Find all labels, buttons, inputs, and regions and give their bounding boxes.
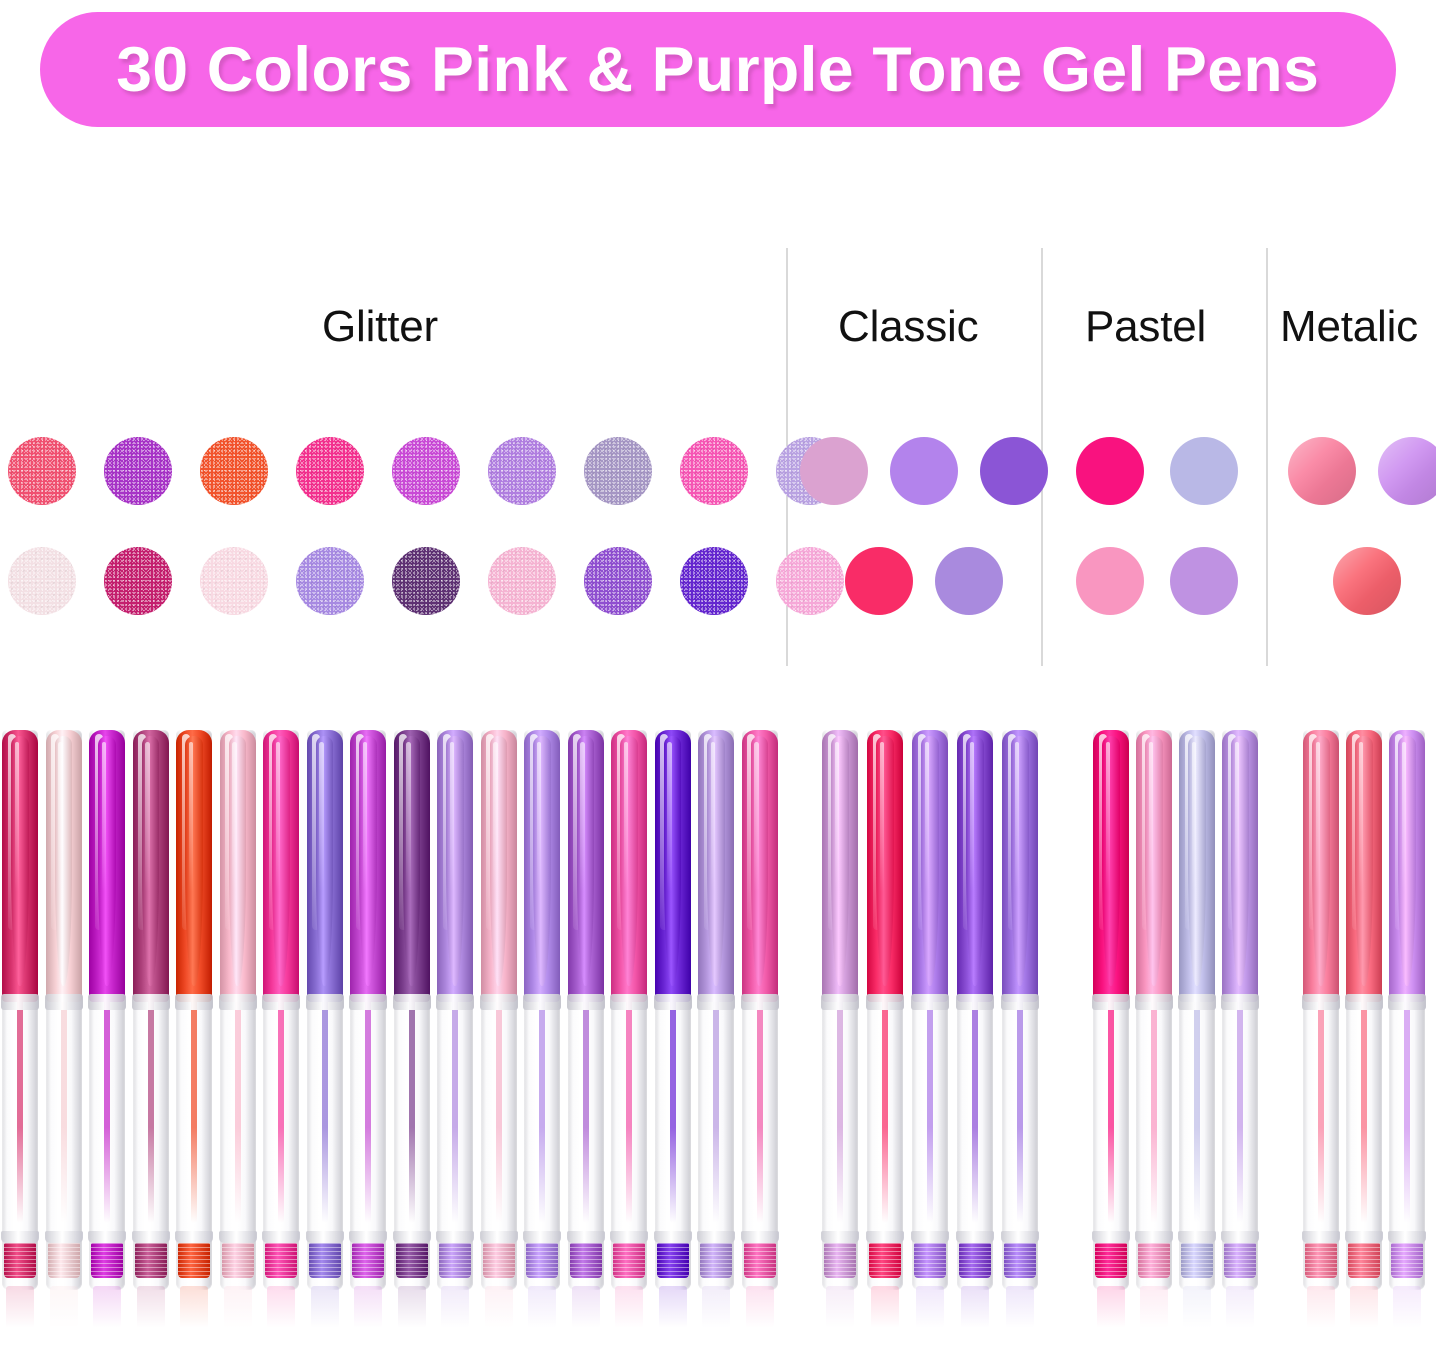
pen-classic-4 — [957, 730, 993, 1290]
pen-ink-plug — [1391, 1243, 1423, 1278]
pen-clip-highlight — [970, 742, 974, 892]
pen-ink-plug — [48, 1243, 80, 1278]
pen-reflection-classic-3 — [912, 1286, 948, 1332]
pen-ink-plug — [1305, 1243, 1337, 1278]
swatch-glitter-r2-6 — [488, 547, 556, 615]
pen-plug-rings — [657, 1243, 689, 1278]
pen-end-ring — [956, 1231, 994, 1243]
pen-reflection-classic-2 — [867, 1286, 903, 1332]
pen-reflection-glitter-17 — [698, 1286, 734, 1332]
pen-glitter-13 — [524, 730, 560, 1290]
pen-clip-highlight — [145, 742, 149, 892]
pen-ink-plug — [1224, 1243, 1256, 1278]
pen-ink-plug — [1138, 1243, 1170, 1278]
pen-end-ring — [1092, 1231, 1130, 1243]
pen-ink-plug — [352, 1243, 384, 1278]
pen-reflection-fill — [311, 1286, 339, 1328]
pen-reflection-glitter-9 — [350, 1286, 386, 1332]
pen-end-ring — [821, 1231, 859, 1243]
pen-clip — [1011, 736, 1028, 986]
pen-reflection-fill — [93, 1286, 121, 1328]
pen-reflection-fill — [1140, 1286, 1168, 1328]
pen-end-ring — [132, 1231, 170, 1243]
pen-clip-highlight — [15, 742, 19, 892]
pen-plug-rings — [222, 1243, 254, 1278]
swatch-glitter-r1-4 — [296, 437, 364, 505]
pen-collar — [393, 994, 431, 1010]
swatch-glitter-r1-1 — [8, 437, 76, 505]
swatch-metalic-r2-1 — [1333, 547, 1401, 615]
pen-ink-plug — [613, 1243, 645, 1278]
pen-reflection-glitter-1 — [2, 1286, 38, 1332]
pen-collar — [1, 994, 39, 1010]
pen-glitter-8 — [307, 730, 343, 1290]
pen-plug-rings — [1391, 1243, 1423, 1278]
pen-end-ring — [911, 1231, 949, 1243]
pen-clip — [185, 736, 202, 986]
pen-ink-plug — [959, 1243, 991, 1278]
pen-glitter-9 — [350, 730, 386, 1290]
swatch-glitter-r2-8 — [680, 547, 748, 615]
pen-ink-plug — [178, 1243, 210, 1278]
pen-plug-rings — [439, 1243, 471, 1278]
pen-end-ring — [697, 1231, 735, 1243]
pen-glitter-7 — [263, 730, 299, 1290]
swatch-glitter-r1-7 — [584, 437, 652, 505]
swatch-glitter-r2-4 — [296, 547, 364, 615]
pen-collar — [480, 994, 518, 1010]
swatch-pastel-r2-1 — [1076, 547, 1144, 615]
pen-reflection-fill — [871, 1286, 899, 1328]
pen-clip — [577, 736, 594, 986]
pen-clip-highlight — [1015, 742, 1019, 892]
pen-collar — [911, 994, 949, 1010]
pen-end-ring — [1388, 1231, 1426, 1243]
pen-reflection-fill — [528, 1286, 556, 1328]
pen-clip-highlight — [754, 742, 758, 892]
pen-collar — [1302, 994, 1340, 1010]
pen-glitter-18 — [742, 730, 778, 1290]
pen-end-ring — [306, 1231, 344, 1243]
pen-reflection-classic-1 — [822, 1286, 858, 1332]
pen-end-ring — [175, 1231, 213, 1243]
pen-plug-rings — [570, 1243, 602, 1278]
pen-end-ring — [610, 1231, 648, 1243]
pen-plug-rings — [744, 1243, 776, 1278]
pen-reflection-fill — [659, 1286, 687, 1328]
pen-reflection-glitter-10 — [394, 1286, 430, 1332]
pen-pastel-4 — [1222, 730, 1258, 1290]
pen-plug-rings — [1138, 1243, 1170, 1278]
pen-clip-highlight — [450, 742, 454, 892]
pen-clip-highlight — [363, 742, 367, 892]
pen-reflection-fill — [746, 1286, 774, 1328]
pen-clip — [1145, 736, 1162, 986]
pen-ink-plug — [439, 1243, 471, 1278]
pen-clip-highlight — [406, 742, 410, 892]
pen-plug-rings — [4, 1243, 36, 1278]
pen-glitter-5 — [176, 730, 212, 1290]
pen-end-ring — [1135, 1231, 1173, 1243]
pen-reflection-classic-4 — [957, 1286, 993, 1332]
pen-plug-rings — [135, 1243, 167, 1278]
pen-ink-plug — [1348, 1243, 1380, 1278]
pen-clip — [446, 736, 463, 986]
pen-plug-rings — [178, 1243, 210, 1278]
pen-reflection-fill — [224, 1286, 252, 1328]
pen-reflection-metalic-2 — [1346, 1286, 1382, 1332]
pen-reflection-glitter-5 — [176, 1286, 212, 1332]
pen-ink-plug — [309, 1243, 341, 1278]
pen-ink-plug — [396, 1243, 428, 1278]
product-title-text: 30 Colors Pink & Purple Tone Gel Pens — [116, 34, 1319, 106]
pen-clip — [966, 736, 983, 986]
pen-clip — [272, 736, 289, 986]
pen-collar — [523, 994, 561, 1010]
pen-end-ring — [523, 1231, 561, 1243]
pen-collar — [1135, 994, 1173, 1010]
pen-plug-rings — [959, 1243, 991, 1278]
pen-end-ring — [349, 1231, 387, 1243]
pen-collar — [175, 994, 213, 1010]
swatch-glitter-r1-5 — [392, 437, 460, 505]
pen-end-ring — [1345, 1231, 1383, 1243]
pen-reflection-fill — [180, 1286, 208, 1328]
pen-end-ring — [1221, 1231, 1259, 1243]
pen-collar — [1092, 994, 1130, 1010]
pen-ink-plug — [265, 1243, 297, 1278]
pen-ink-plug — [222, 1243, 254, 1278]
pen-end-ring — [436, 1231, 474, 1243]
pen-clip-highlight — [276, 742, 280, 892]
pen-collar — [654, 994, 692, 1010]
pen-reflection-glitter-13 — [524, 1286, 560, 1332]
swatch-glitter-r1-8 — [680, 437, 748, 505]
pen-glitter-15 — [611, 730, 647, 1290]
pen-end-ring — [480, 1231, 518, 1243]
pen-reflection-fill — [702, 1286, 730, 1328]
pen-end-ring — [45, 1231, 83, 1243]
pen-clip-highlight — [319, 742, 323, 892]
pen-collar — [866, 994, 904, 1010]
swatch-glitter-r1-3 — [200, 437, 268, 505]
pen-plug-rings — [352, 1243, 384, 1278]
pen-clip — [316, 736, 333, 986]
pen-ink-plug — [91, 1243, 123, 1278]
pen-end-ring — [262, 1231, 300, 1243]
pen-clip — [98, 736, 115, 986]
pen-glitter-11 — [437, 730, 473, 1290]
pen-reflection-fill — [826, 1286, 854, 1328]
pen-collar — [349, 994, 387, 1010]
pen-reflection-glitter-18 — [742, 1286, 778, 1332]
pen-reflection-pastel-1 — [1093, 1286, 1129, 1332]
pen-ink-plug — [824, 1243, 856, 1278]
pen-end-ring — [866, 1231, 904, 1243]
pen-clip-highlight — [1402, 742, 1406, 892]
pen-reflection-glitter-7 — [263, 1286, 299, 1332]
pen-clip — [1102, 736, 1119, 986]
pen-collar — [741, 994, 779, 1010]
pen-clip — [142, 736, 159, 986]
pen-reflection-fill — [398, 1286, 426, 1328]
pen-glitter-17 — [698, 730, 734, 1290]
swatch-glitter-r2-1 — [8, 547, 76, 615]
category-label-metalic: Metalic — [1280, 302, 1418, 352]
swatch-pastel-r1-2 — [1170, 437, 1238, 505]
pen-clip — [55, 736, 72, 986]
pen-plug-rings — [483, 1243, 515, 1278]
pen-collar — [219, 994, 257, 1010]
pen-classic-1 — [822, 730, 858, 1290]
category-label-classic: Classic — [838, 302, 978, 352]
pen-plug-rings — [613, 1243, 645, 1278]
pen-plug-rings — [824, 1243, 856, 1278]
pen-glitter-2 — [46, 730, 82, 1290]
pen-glitter-3 — [89, 730, 125, 1290]
pen-collar — [1345, 994, 1383, 1010]
pen-end-ring — [1302, 1231, 1340, 1243]
pen-ink-plug — [1004, 1243, 1036, 1278]
swatch-glitter-r1-6 — [488, 437, 556, 505]
pen-reflection-fill — [267, 1286, 295, 1328]
pen-reflection-glitter-6 — [220, 1286, 256, 1332]
pen-clip-highlight — [880, 742, 884, 892]
swatch-classic-r1-3 — [980, 437, 1048, 505]
pen-collar — [436, 994, 474, 1010]
product-title-banner: 30 Colors Pink & Purple Tone Gel Pens — [40, 12, 1396, 127]
pen-clip-highlight — [1192, 742, 1196, 892]
pen-reflection-classic-5 — [1002, 1286, 1038, 1332]
pen-ink-plug — [869, 1243, 901, 1278]
pen-collar — [45, 994, 83, 1010]
category-label-pastel: Pastel — [1085, 302, 1206, 352]
pen-reflection-fill — [572, 1286, 600, 1328]
pen-end-ring — [219, 1231, 257, 1243]
pen-clip — [831, 736, 848, 986]
pen-clip — [1231, 736, 1248, 986]
swatch-pastel-r2-2 — [1170, 547, 1238, 615]
pen-reflection-fill — [441, 1286, 469, 1328]
pen-clip-highlight — [1106, 742, 1110, 892]
pen-end-ring — [1001, 1231, 1039, 1243]
pen-reflection-pastel-3 — [1179, 1286, 1215, 1332]
pen-reflection-glitter-16 — [655, 1286, 691, 1332]
pen-collar — [1221, 994, 1259, 1010]
pen-collar — [610, 994, 648, 1010]
pen-clip-highlight — [537, 742, 541, 892]
pen-collar — [697, 994, 735, 1010]
pen-reflection-fill — [354, 1286, 382, 1328]
pen-clip-highlight — [58, 742, 62, 892]
swatch-metalic-r1-1 — [1288, 437, 1356, 505]
pen-clip-highlight — [624, 742, 628, 892]
pen-glitter-14 — [568, 730, 604, 1290]
pen-clip-highlight — [835, 742, 839, 892]
pen-plug-rings — [914, 1243, 946, 1278]
pen-collar — [821, 994, 859, 1010]
pen-end-ring — [1, 1231, 39, 1243]
pen-ink-plug — [1181, 1243, 1213, 1278]
pen-clip-highlight — [1316, 742, 1320, 892]
pen-classic-2 — [867, 730, 903, 1290]
pen-classic-5 — [1002, 730, 1038, 1290]
swatch-glitter-r2-9 — [776, 547, 844, 615]
pen-pastel-1 — [1093, 730, 1129, 1290]
pen-glitter-16 — [655, 730, 691, 1290]
pen-clip — [921, 736, 938, 986]
pen-reflection-fill — [1226, 1286, 1254, 1328]
pen-classic-3 — [912, 730, 948, 1290]
pen-plug-rings — [700, 1243, 732, 1278]
category-divider-3 — [1266, 248, 1268, 666]
pen-ink-plug — [526, 1243, 558, 1278]
swatch-glitter-r1-2 — [104, 437, 172, 505]
pen-plug-rings — [396, 1243, 428, 1278]
pen-clip-highlight — [667, 742, 671, 892]
pen-clip-highlight — [1149, 742, 1153, 892]
pen-reflection-fill — [615, 1286, 643, 1328]
pen-glitter-6 — [220, 730, 256, 1290]
pen-collar — [1388, 994, 1426, 1010]
pen-reflection-glitter-15 — [611, 1286, 647, 1332]
pen-reflection-fill — [1393, 1286, 1421, 1328]
swatch-classic-r2-1 — [845, 547, 913, 615]
pen-plug-rings — [1224, 1243, 1256, 1278]
pen-clip — [11, 736, 28, 986]
pen-clip — [403, 736, 420, 986]
swatch-classic-r1-1 — [800, 437, 868, 505]
pen-reflection-fill — [1006, 1286, 1034, 1328]
pen-clip — [1398, 736, 1415, 986]
swatch-pastel-r1-1 — [1076, 437, 1144, 505]
pen-end-ring — [1178, 1231, 1216, 1243]
swatch-classic-r2-2 — [935, 547, 1003, 615]
pen-collar — [1001, 994, 1039, 1010]
pen-clip-highlight — [189, 742, 193, 892]
pen-plug-rings — [1181, 1243, 1213, 1278]
pen-metalic-2 — [1346, 730, 1382, 1290]
pen-glitter-1 — [2, 730, 38, 1290]
swatch-glitter-r2-2 — [104, 547, 172, 615]
pen-pastel-2 — [1136, 730, 1172, 1290]
pen-collar — [306, 994, 344, 1010]
pen-ink-plug — [744, 1243, 776, 1278]
pen-clip — [1355, 736, 1372, 986]
pen-plug-rings — [869, 1243, 901, 1278]
pen-clip — [1188, 736, 1205, 986]
pen-end-ring — [741, 1231, 779, 1243]
swatch-glitter-r2-7 — [584, 547, 652, 615]
swatch-classic-r1-2 — [890, 437, 958, 505]
pen-ink-plug — [657, 1243, 689, 1278]
pen-reflection-fill — [6, 1286, 34, 1328]
swatch-metalic-r1-2 — [1378, 437, 1436, 505]
pen-plug-rings — [91, 1243, 123, 1278]
pen-clip — [664, 736, 681, 986]
pen-reflection-glitter-8 — [307, 1286, 343, 1332]
pen-clip — [533, 736, 550, 986]
pen-reflection-metalic-1 — [1303, 1286, 1339, 1332]
pen-ink-plug — [483, 1243, 515, 1278]
pen-clip — [751, 736, 768, 986]
pen-ink-plug — [135, 1243, 167, 1278]
pen-collar — [262, 994, 300, 1010]
pen-glitter-12 — [481, 730, 517, 1290]
pen-metalic-3 — [1389, 730, 1425, 1290]
pen-plug-rings — [526, 1243, 558, 1278]
pen-reflection-metalic-3 — [1389, 1286, 1425, 1332]
pen-plug-rings — [265, 1243, 297, 1278]
pen-reflection-glitter-3 — [89, 1286, 125, 1332]
pen-clip — [707, 736, 724, 986]
pen-reflection-fill — [1350, 1286, 1378, 1328]
pen-reflection-fill — [1183, 1286, 1211, 1328]
pen-collar — [956, 994, 994, 1010]
pen-collar — [132, 994, 170, 1010]
pen-reflection-fill — [961, 1286, 989, 1328]
pen-reflection-pastel-2 — [1136, 1286, 1172, 1332]
pen-glitter-10 — [394, 730, 430, 1290]
pen-ink-plug — [4, 1243, 36, 1278]
pen-reflection-fill — [50, 1286, 78, 1328]
pen-reflection-fill — [137, 1286, 165, 1328]
pen-ink-plug — [700, 1243, 732, 1278]
pen-plug-rings — [1348, 1243, 1380, 1278]
pen-clip-highlight — [925, 742, 929, 892]
pen-ink-plug — [1095, 1243, 1127, 1278]
pen-plug-rings — [1004, 1243, 1036, 1278]
pen-pastel-3 — [1179, 730, 1215, 1290]
pen-clip — [1312, 736, 1329, 986]
pen-clip-highlight — [1359, 742, 1363, 892]
pen-reflection-glitter-2 — [46, 1286, 82, 1332]
pen-end-ring — [393, 1231, 431, 1243]
pen-clip-highlight — [580, 742, 584, 892]
pen-plug-rings — [48, 1243, 80, 1278]
pen-reflection-fill — [1097, 1286, 1125, 1328]
category-label-glitter: Glitter — [322, 302, 438, 352]
pen-clip — [490, 736, 507, 986]
pen-collar — [567, 994, 605, 1010]
pen-clip-highlight — [1235, 742, 1239, 892]
pen-reflection-pastel-4 — [1222, 1286, 1258, 1332]
pen-reflection-glitter-4 — [133, 1286, 169, 1332]
pen-plug-rings — [1305, 1243, 1337, 1278]
pen-clip-highlight — [493, 742, 497, 892]
swatch-glitter-r2-3 — [200, 547, 268, 615]
pen-plug-rings — [309, 1243, 341, 1278]
pen-ink-plug — [570, 1243, 602, 1278]
pen-reflection-glitter-12 — [481, 1286, 517, 1332]
pen-clip-highlight — [711, 742, 715, 892]
pen-metalic-1 — [1303, 730, 1339, 1290]
pen-reflection-fill — [485, 1286, 513, 1328]
pen-collar — [88, 994, 126, 1010]
pen-reflection-fill — [1307, 1286, 1335, 1328]
pen-reflection-glitter-14 — [568, 1286, 604, 1332]
pen-clip-highlight — [232, 742, 236, 892]
pen-plug-rings — [1095, 1243, 1127, 1278]
product-image-canvas: 30 Colors Pink & Purple Tone Gel Pens Gl… — [0, 0, 1436, 1346]
pen-clip-highlight — [102, 742, 106, 892]
pen-end-ring — [654, 1231, 692, 1243]
pen-clip — [229, 736, 246, 986]
pen-end-ring — [567, 1231, 605, 1243]
pen-reflection-fill — [916, 1286, 944, 1328]
pen-clip — [359, 736, 376, 986]
pen-collar — [1178, 994, 1216, 1010]
